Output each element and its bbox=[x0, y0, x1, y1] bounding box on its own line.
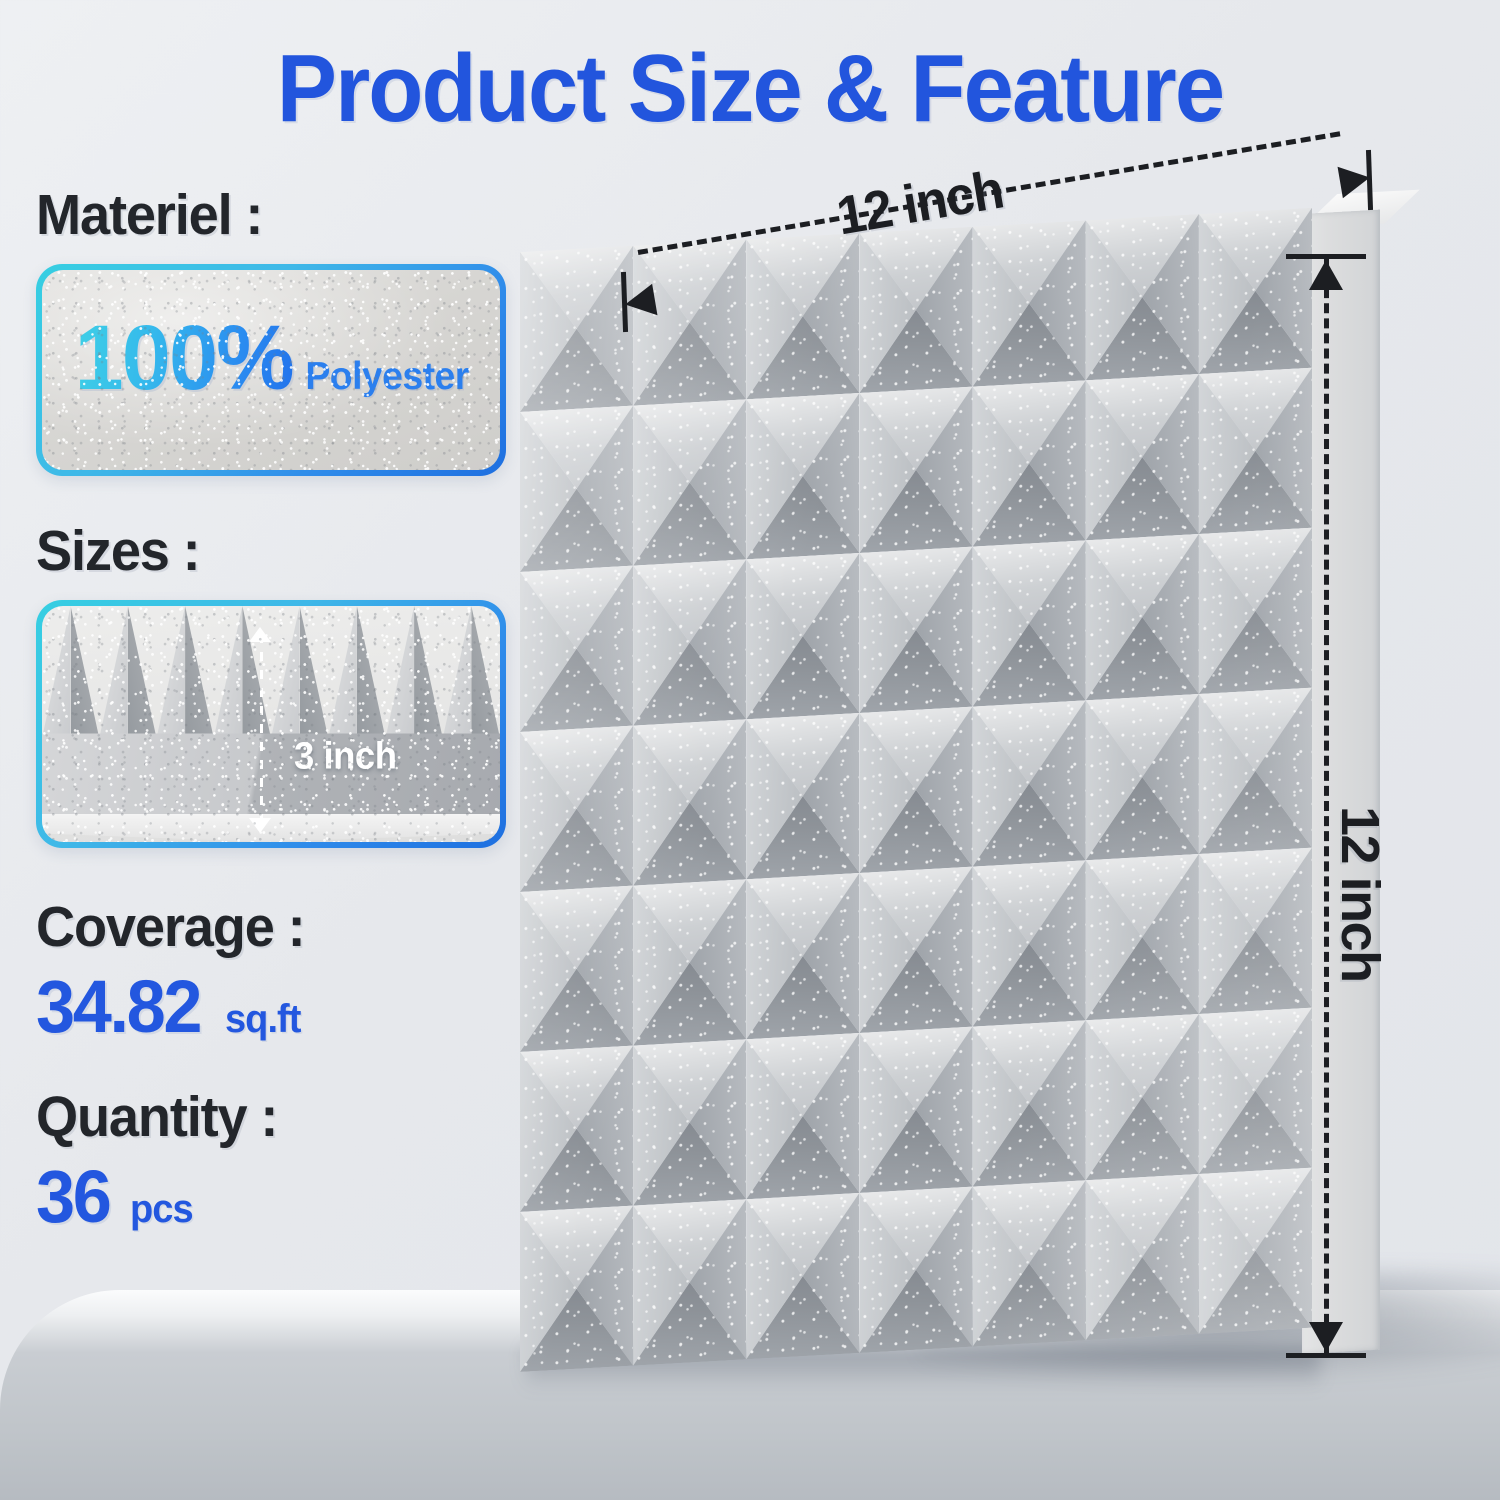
pyramid-cell bbox=[520, 726, 633, 892]
foam-thickness-illustration: 3 inch bbox=[42, 606, 500, 842]
foam-wedge bbox=[157, 606, 214, 738]
pyramid-cell bbox=[859, 387, 972, 553]
pyramid-cell bbox=[1199, 528, 1312, 694]
quantity-value-row: 36 pcs bbox=[36, 1160, 506, 1234]
quantity-label: Quantity : bbox=[36, 1084, 483, 1150]
pyramid-cell bbox=[859, 547, 972, 713]
width-label: 12 inch bbox=[832, 159, 1007, 248]
pyramid-cell bbox=[1199, 1168, 1312, 1334]
pyramid-cell bbox=[520, 1206, 633, 1372]
pyramid-cell bbox=[1086, 374, 1199, 540]
product-photo: 12 inch 12 inch bbox=[500, 160, 1500, 1500]
pyramid-cell bbox=[746, 553, 859, 719]
pyramid-cell bbox=[973, 540, 1086, 706]
pyramid-cell bbox=[859, 707, 972, 873]
coverage-unit: sq.ft bbox=[225, 997, 300, 1042]
pyramid-cell bbox=[859, 1027, 972, 1193]
pyramid-cell bbox=[1199, 1008, 1312, 1174]
foam-wedge bbox=[271, 606, 328, 738]
pyramid-cell bbox=[633, 1199, 746, 1365]
pyramid-cell bbox=[746, 393, 859, 559]
coverage-value: 34.82 bbox=[36, 970, 200, 1044]
pyramid-cell bbox=[520, 566, 633, 732]
thickness-arrow-up-icon bbox=[249, 627, 271, 642]
material-name: Polyester bbox=[305, 355, 468, 399]
pyramid-cell bbox=[1199, 848, 1312, 1014]
foam-wedge-tops bbox=[42, 606, 500, 738]
pyramid-grid bbox=[520, 208, 1312, 1372]
height-arrow-up-icon bbox=[1309, 260, 1343, 290]
pyramid-cell bbox=[973, 380, 1086, 546]
quantity-unit: pcs bbox=[130, 1187, 193, 1232]
page-title: Product Size & Feature bbox=[45, 34, 1455, 144]
thickness-dimension-line bbox=[260, 634, 263, 825]
width-arrow-left-icon bbox=[623, 284, 658, 321]
material-label: Materiel : bbox=[36, 182, 483, 248]
sizes-label: Sizes : bbox=[36, 518, 483, 584]
material-card-surface: 100% Polyester bbox=[42, 270, 500, 470]
material-card-text: 100% Polyester bbox=[42, 316, 500, 401]
sizes-card-surface: 3 inch bbox=[42, 606, 500, 842]
pyramid-cell bbox=[1199, 688, 1312, 854]
width-dimension: 12 inch bbox=[610, 154, 1380, 304]
sizes-card: 3 inch bbox=[36, 600, 506, 848]
pyramid-cell bbox=[973, 1020, 1086, 1186]
foam-wedge bbox=[443, 606, 500, 738]
material-percent: 100% bbox=[75, 316, 293, 401]
foam-wedge bbox=[386, 606, 443, 738]
acoustic-foam-panel bbox=[520, 252, 1380, 1372]
spec-column: Materiel : 100% Polyester Sizes : bbox=[36, 182, 506, 1234]
foam-wedge-row bbox=[42, 606, 500, 738]
foam-wedge bbox=[328, 606, 385, 738]
width-arrow-right-icon bbox=[1338, 162, 1373, 199]
pyramid-cell bbox=[746, 1033, 859, 1199]
pyramid-cell bbox=[859, 1187, 972, 1353]
pyramid-cell bbox=[633, 399, 746, 565]
height-label: 12 inch bbox=[1329, 806, 1391, 982]
pyramid-cell bbox=[1086, 694, 1199, 860]
pyramid-cell bbox=[973, 1180, 1086, 1346]
pyramid-cell bbox=[520, 406, 633, 572]
foam-wedge bbox=[42, 606, 99, 738]
infographic-canvas: Product Size & Feature Materiel : 100% P… bbox=[0, 0, 1500, 1500]
pyramid-cell bbox=[520, 886, 633, 1052]
coverage-label: Coverage : bbox=[36, 894, 483, 960]
pyramid-cell bbox=[746, 873, 859, 1039]
pyramid-cell bbox=[973, 860, 1086, 1026]
pyramid-cell bbox=[1086, 1174, 1199, 1340]
height-tick-top-icon bbox=[1286, 254, 1366, 259]
pyramid-cell bbox=[633, 879, 746, 1045]
height-arrow-down-icon bbox=[1309, 1322, 1343, 1352]
thickness-label: 3 inch bbox=[294, 736, 397, 779]
pyramid-cell bbox=[520, 1046, 633, 1212]
material-card: 100% Polyester bbox=[36, 264, 506, 476]
foam-wedge bbox=[99, 606, 156, 738]
foam-base-front-face bbox=[42, 733, 500, 827]
pyramid-cell bbox=[859, 867, 972, 1033]
pyramid-cell bbox=[1199, 368, 1312, 534]
coverage-value-row: 34.82 sq.ft bbox=[36, 970, 506, 1044]
pyramid-cell bbox=[746, 1193, 859, 1359]
height-tick-bottom-icon bbox=[1286, 1353, 1366, 1358]
foam-base-bottom-face bbox=[42, 814, 500, 842]
pyramid-cell bbox=[1086, 1014, 1199, 1180]
pyramid-cell bbox=[746, 713, 859, 879]
thickness-arrow-down-icon bbox=[249, 818, 271, 833]
quantity-value: 36 bbox=[36, 1160, 109, 1234]
pyramid-cell bbox=[973, 700, 1086, 866]
pyramid-cell bbox=[1086, 854, 1199, 1020]
pyramid-cell bbox=[633, 1039, 746, 1205]
pyramid-cell bbox=[1086, 534, 1199, 700]
height-dimension: 12 inch bbox=[1302, 240, 1422, 1372]
pyramid-cell bbox=[633, 559, 746, 725]
pyramid-cell bbox=[633, 719, 746, 885]
